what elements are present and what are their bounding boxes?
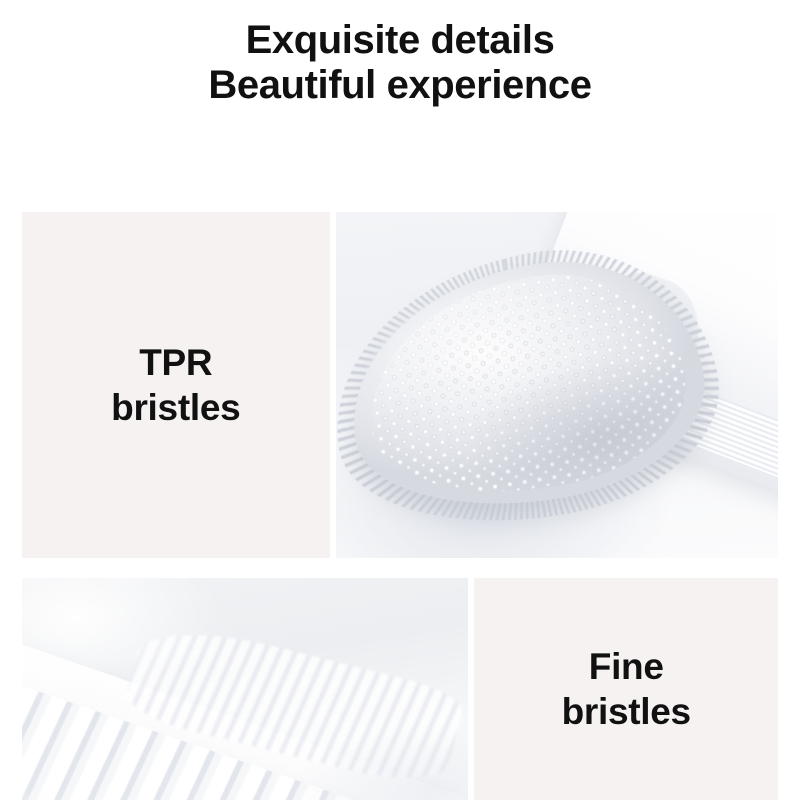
page-title-line-2: Beautiful experience: [0, 63, 800, 108]
feature-label-tpr: TPR bristles: [111, 340, 240, 430]
product-detail-banner: Exquisite details Beautiful experience T…: [0, 0, 800, 800]
feature-label-tpr-line-2: bristles: [111, 385, 240, 430]
page-title: Exquisite details Beautiful experience: [0, 18, 800, 108]
feature-label-fine: Fine bristles: [562, 644, 691, 734]
feature-photo-fine: [22, 578, 468, 800]
feature-card-tpr: TPR bristles: [22, 212, 778, 558]
panel-divider: [468, 578, 474, 800]
photo-haze: [22, 578, 468, 800]
feature-label-fine-line-1: Fine: [562, 644, 691, 689]
feature-label-panel-fine: Fine bristles: [474, 578, 778, 800]
page-title-line-1: Exquisite details: [0, 18, 800, 63]
nylon-brush-photo: [22, 578, 468, 800]
feature-label-tpr-line-1: TPR: [111, 340, 240, 385]
feature-label-panel-tpr: TPR bristles: [22, 212, 330, 558]
panel-divider: [330, 212, 336, 558]
feature-card-fine: Fine bristles: [22, 578, 778, 800]
feature-label-fine-line-2: bristles: [562, 689, 691, 734]
silicone-brush-photo: [336, 212, 778, 558]
feature-photo-tpr: [336, 212, 778, 558]
